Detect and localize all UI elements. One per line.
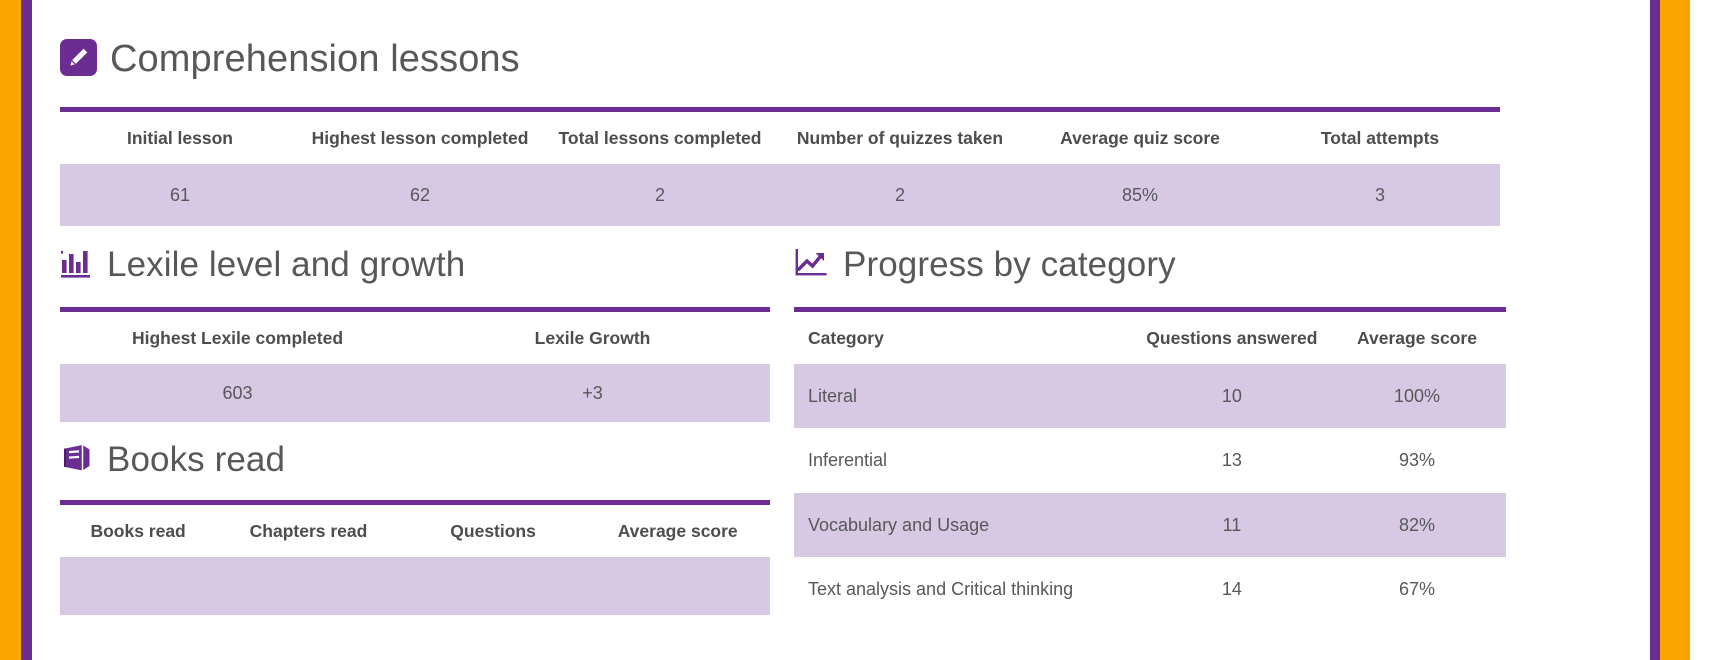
comprehension-title: Comprehension lessons bbox=[110, 38, 520, 81]
bar-chart-icon bbox=[60, 246, 94, 285]
lexile-level-and-growth-section: Lexile level and growth Highest Lexile c… bbox=[60, 245, 770, 422]
table-header-row: Initial lesson Highest lesson completed … bbox=[60, 112, 1500, 164]
progress-heading: Progress by category bbox=[794, 245, 1506, 285]
cell-highest-lexile-completed: 603 bbox=[60, 364, 415, 422]
column-header-highest-lesson-completed: Highest lesson completed bbox=[300, 112, 540, 164]
table-header-row: Highest Lexile completed Lexile Growth bbox=[60, 312, 770, 364]
table-row: Text analysis and Critical thinking 14 6… bbox=[794, 557, 1506, 621]
column-header-total-attempts: Total attempts bbox=[1260, 112, 1500, 164]
column-header-total-lessons-completed: Total lessons completed bbox=[540, 112, 780, 164]
cell-books-read bbox=[60, 557, 216, 615]
table-header-row: Books read Chapters read Questions Avera… bbox=[60, 505, 770, 557]
cell-average-score: 67% bbox=[1328, 557, 1506, 621]
column-header-books-read: Books read bbox=[60, 505, 216, 557]
cell-total-lessons-completed: 2 bbox=[540, 164, 780, 226]
cell-questions-answered: 14 bbox=[1136, 557, 1328, 621]
progress-by-category-section: Progress by category Category Questions … bbox=[794, 245, 1506, 621]
cell-initial-lesson: 61 bbox=[60, 164, 300, 226]
column-header-initial-lesson: Initial lesson bbox=[60, 112, 300, 164]
column-header-average-score: Average score bbox=[1328, 312, 1506, 364]
cell-lexile-growth: +3 bbox=[415, 364, 770, 422]
column-header-chapters-read: Chapters read bbox=[216, 505, 401, 557]
column-header-number-of-quizzes-taken: Number of quizzes taken bbox=[780, 112, 1020, 164]
cell-average-score: 82% bbox=[1328, 493, 1506, 557]
cell-questions bbox=[401, 557, 586, 615]
table-row bbox=[60, 557, 770, 615]
lexile-title: Lexile level and growth bbox=[107, 245, 465, 285]
lexile-heading: Lexile level and growth bbox=[60, 245, 770, 285]
table-row: Inferential 13 93% bbox=[794, 428, 1506, 492]
page-edge-orange-left bbox=[0, 0, 21, 660]
column-header-highest-lexile-completed: Highest Lexile completed bbox=[60, 312, 415, 364]
cell-average-score bbox=[585, 557, 770, 615]
comprehension-heading: Comprehension lessons bbox=[60, 38, 1500, 81]
cell-category: Literal bbox=[794, 364, 1136, 428]
table-row: Vocabulary and Usage 11 82% bbox=[794, 493, 1506, 557]
column-header-category: Category bbox=[794, 312, 1136, 364]
books-table: Books read Chapters read Questions Avera… bbox=[60, 505, 770, 615]
pencil-icon bbox=[60, 39, 97, 81]
cell-category: Inferential bbox=[794, 428, 1136, 492]
cell-average-quiz-score: 85% bbox=[1020, 164, 1260, 226]
table-header-row: Category Questions answered Average scor… bbox=[794, 312, 1506, 364]
lexile-table: Highest Lexile completed Lexile Growth 6… bbox=[60, 312, 770, 422]
table-row: 603 +3 bbox=[60, 364, 770, 422]
table-row: Literal 10 100% bbox=[794, 364, 1506, 428]
comprehension-table: Initial lesson Highest lesson completed … bbox=[60, 112, 1500, 226]
cell-total-attempts: 3 bbox=[1260, 164, 1500, 226]
cell-number-of-quizzes-taken: 2 bbox=[780, 164, 1020, 226]
column-header-average-quiz-score: Average quiz score bbox=[1020, 112, 1260, 164]
cell-questions-answered: 13 bbox=[1136, 428, 1328, 492]
books-read-section: Books read Books read Chapters read Ques… bbox=[60, 440, 770, 615]
column-header-lexile-growth: Lexile Growth bbox=[415, 312, 770, 364]
page-edge-orange-right bbox=[1660, 0, 1690, 660]
column-header-questions-answered: Questions answered bbox=[1136, 312, 1328, 364]
cell-questions-answered: 10 bbox=[1136, 364, 1328, 428]
cell-category: Vocabulary and Usage bbox=[794, 493, 1136, 557]
books-heading: Books read bbox=[60, 440, 770, 480]
books-title: Books read bbox=[107, 440, 285, 480]
cell-chapters-read bbox=[216, 557, 401, 615]
page-edge-purple-left bbox=[21, 0, 32, 660]
progress-title: Progress by category bbox=[843, 245, 1176, 285]
column-header-questions: Questions bbox=[401, 505, 586, 557]
trending-up-icon bbox=[794, 246, 830, 285]
cell-average-score: 100% bbox=[1328, 364, 1506, 428]
column-header-average-score: Average score bbox=[585, 505, 770, 557]
book-icon bbox=[60, 441, 94, 480]
cell-questions-answered: 11 bbox=[1136, 493, 1328, 557]
page-edge-purple-right bbox=[1650, 0, 1660, 660]
report-page: Comprehension lessons Initial lesson Hig… bbox=[32, 0, 1650, 660]
table-row: 61 62 2 2 85% 3 bbox=[60, 164, 1500, 226]
cell-average-score: 93% bbox=[1328, 428, 1506, 492]
comprehension-lessons-section: Comprehension lessons Initial lesson Hig… bbox=[60, 38, 1500, 226]
progress-table: Category Questions answered Average scor… bbox=[794, 312, 1506, 621]
cell-highest-lesson-completed: 62 bbox=[300, 164, 540, 226]
cell-category: Text analysis and Critical thinking bbox=[794, 557, 1136, 621]
